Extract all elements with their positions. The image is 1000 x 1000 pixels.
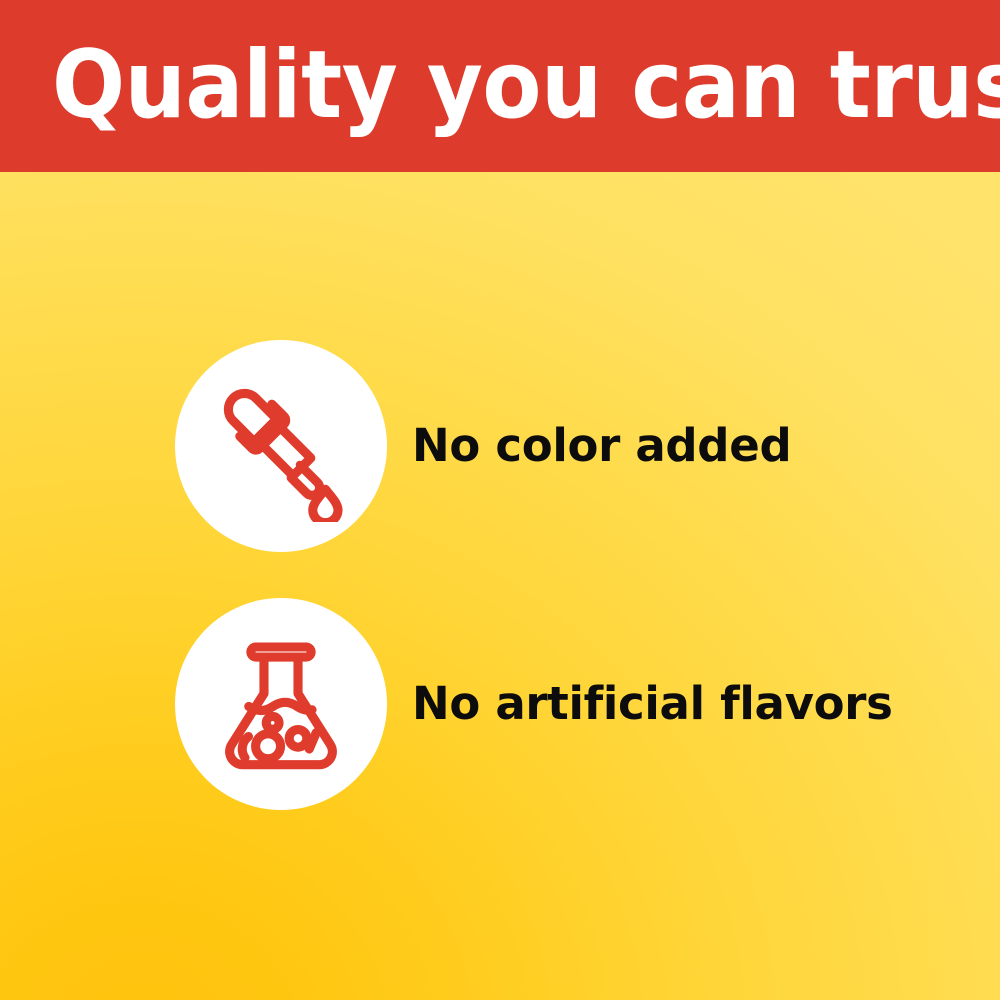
flask-icon	[205, 628, 357, 780]
feature-label: No artificial flavors	[412, 678, 893, 730]
page-title: Quality you can trust	[52, 36, 890, 136]
icon-badge	[175, 340, 387, 552]
feature-item-no-color-added: No color added	[175, 340, 791, 552]
feature-list: No color added	[0, 172, 1000, 1000]
dropper-icon	[205, 370, 357, 522]
header-banner: Quality you can trust	[0, 0, 1000, 172]
icon-badge	[175, 598, 387, 810]
quality-infographic: Quality you can trust	[0, 0, 1000, 1000]
feature-label: No color added	[412, 420, 791, 472]
feature-item-no-artificial-flavors: No artificial flavors	[175, 598, 893, 810]
